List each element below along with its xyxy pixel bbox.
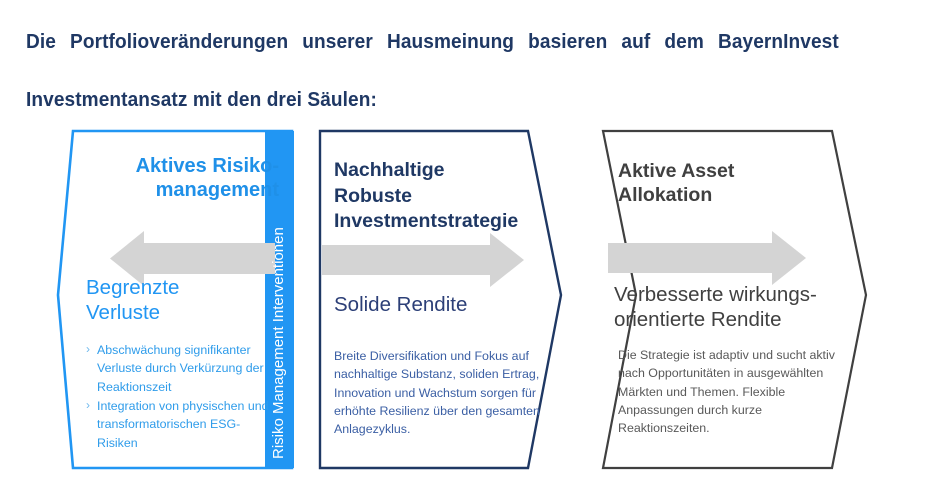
pillar-1-subtitle-line-1: Begrenzte	[86, 276, 286, 301]
heading-line-2: Investmentansatz mit den drei Säulen:	[26, 85, 839, 114]
pillar-2-title: Nachhaltige Robuste Investmentstrategie	[334, 158, 549, 235]
pillar-1-subtitle: Begrenzte Verluste	[86, 276, 286, 325]
pillar-1-subtitle-line-2: Verluste	[86, 301, 286, 326]
pillar-2-subtitle: Solide Rendite	[334, 293, 544, 318]
pillar-1-bullet-1: Abschwächung signifikanter Verluste durc…	[97, 341, 276, 396]
pillar-1-bullet-list: › Abschwächung signifikanter Verluste du…	[86, 341, 276, 453]
pillar-2-arrow-right	[322, 233, 524, 287]
pillar-3-title-line-1: Aktive Asset	[618, 160, 828, 184]
pillar-1-title: Aktives Risiko- management	[86, 154, 279, 203]
pillar-3-title-line-2: Allokation	[618, 184, 828, 208]
list-item: › Abschwächung signifikanter Verluste du…	[86, 341, 276, 396]
pillar-3-arrow-right	[608, 231, 806, 285]
chevron-right-icon: ›	[86, 341, 90, 396]
list-item: › Integration von physischen und transfo…	[86, 397, 276, 452]
page-intro-heading: Die Portfolioveränderungen unserer Hausm…	[26, 27, 839, 114]
pillar-2-title-line-3: Investmentstrategie	[334, 209, 549, 235]
pillar-1-bullet-2: Integration von physischen und transform…	[97, 397, 276, 452]
heading-line-1: Die Portfolioveränderungen unserer Hausm…	[26, 27, 839, 85]
pillar-3-subtitle-line-2: orientierte Rendite	[614, 308, 864, 333]
pillar-3-body: Die Strategie ist adaptiv und sucht akti…	[618, 346, 838, 438]
pillar-1-title-line-2: management	[86, 178, 279, 202]
pillar-2-title-line-1: Nachhaltige	[334, 158, 549, 184]
pillar-2-title-line-2: Robuste	[334, 184, 549, 210]
pillar-3-title: Aktive Asset Allokation	[618, 160, 828, 208]
pillar-2-body: Breite Diversifikation und Fokus auf nac…	[334, 347, 542, 439]
chevron-right-icon: ›	[86, 397, 90, 452]
pillar-3-subtitle: Verbesserte wirkungs- orientierte Rendit…	[614, 283, 864, 332]
pillar-2-subtitle-line-1: Solide Rendite	[334, 293, 544, 318]
pillar-3-subtitle-line-1: Verbesserte wirkungs-	[614, 283, 864, 308]
pillar-1-title-line-1: Aktives Risiko-	[86, 154, 279, 178]
